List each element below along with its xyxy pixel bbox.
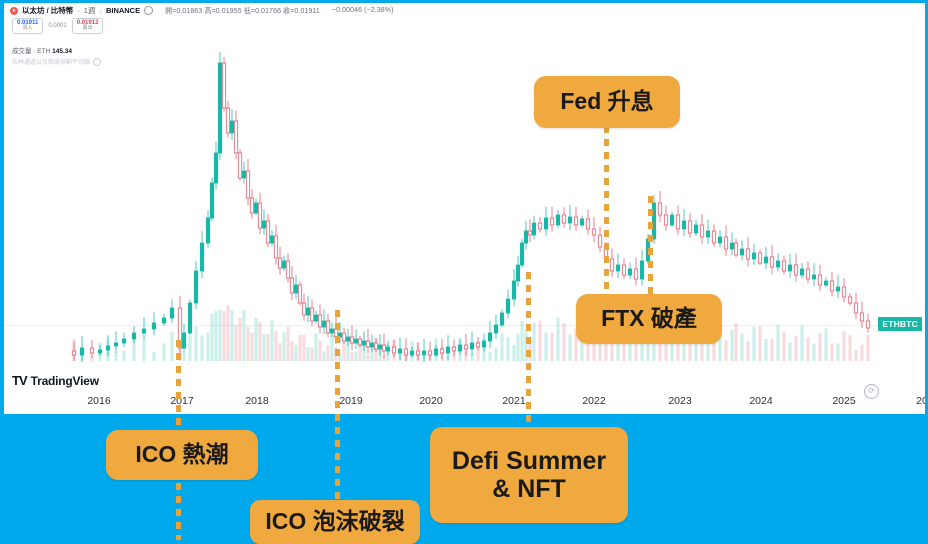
quote-chips: 0.01911 買入 0.0001 0.01912 賣出 [12, 18, 103, 34]
time-axis-tick: 2020 [419, 395, 442, 407]
event-line-defi [526, 272, 531, 434]
price-series-svg [8, 33, 928, 391]
time-axis-tick: 2021 [502, 395, 525, 407]
ask-label: 賣出 [77, 26, 99, 31]
header-separator-1: · [77, 6, 80, 15]
callout-defi-line2: & NFT [492, 475, 566, 503]
callout-ico-bust[interactable]: ICO 泡沫破裂 [250, 500, 420, 544]
price-axis-badge[interactable]: ETHBTC [878, 317, 922, 331]
tradingview-chart-panel: 以太坊 / 比特幣 · 1週 · BINANCE 開=0.01863 高=0.0… [0, 0, 928, 414]
event-line-fed [604, 126, 609, 302]
time-axis-tick: 2019 [339, 395, 362, 407]
tradingview-wordmark: TradingView [31, 374, 99, 388]
ohlc-values: 開=0.01863 高=0.01955 低=0.01766 收=0.01911 [165, 6, 320, 16]
tradingview-logo-icon: TV [12, 373, 27, 388]
chart-header: 以太坊 / 比特幣 · 1週 · BINANCE 開=0.01863 高=0.0… [10, 5, 394, 16]
tradingview-watermark: TV TradingView [12, 373, 99, 388]
chart-interval[interactable]: 1週 [84, 5, 96, 16]
callout-ftx-bankruptcy[interactable]: FTX 破產 [576, 294, 722, 344]
header-separator-2: · [99, 6, 102, 15]
time-axis-tick: 2017 [170, 395, 193, 407]
time-axis-tick: 2023 [668, 395, 691, 407]
axis-reset-icon[interactable]: ⟳ [864, 384, 879, 399]
event-line-ico-bust [335, 310, 340, 510]
event-line-ftx [648, 196, 653, 296]
time-axis-tick: 2024 [749, 395, 772, 407]
exchange-name[interactable]: BINANCE [106, 6, 140, 15]
bid-chip[interactable]: 0.01911 買入 [12, 18, 43, 34]
time-axis-tick: 2016 [87, 395, 110, 407]
change-value: −0.00046 (−2.38%) [332, 7, 394, 14]
callout-defi-summer[interactable]: Defi Summer & NFT [430, 427, 628, 523]
time-axis-tick: 2025 [832, 395, 855, 407]
time-axis-tick: 2018 [245, 395, 268, 407]
ask-chip[interactable]: 0.01912 賣出 [72, 18, 104, 34]
symbol-name[interactable]: 以太坊 / 比特幣 [22, 5, 73, 16]
screenshot-root: 以太坊 / 比特幣 · 1週 · BINANCE 開=0.01863 高=0.0… [0, 0, 928, 544]
price-plot [8, 33, 928, 391]
symbol-logo-icon [10, 7, 18, 15]
spread-value: 0.0001 [48, 23, 66, 29]
time-axis[interactable]: 2016201720182019202020212022202320242025… [8, 395, 928, 414]
visibility-eye-icon[interactable] [144, 6, 153, 15]
time-axis-tick: 20 [916, 395, 928, 407]
callout-ico-boom[interactable]: ICO 熱潮 [106, 430, 258, 480]
time-axis-tick: 2022 [582, 395, 605, 407]
callout-fed-rate-hike[interactable]: Fed 升息 [534, 76, 680, 128]
callout-defi-line1: Defi Summer [452, 447, 606, 475]
bid-label: 買入 [17, 26, 38, 31]
